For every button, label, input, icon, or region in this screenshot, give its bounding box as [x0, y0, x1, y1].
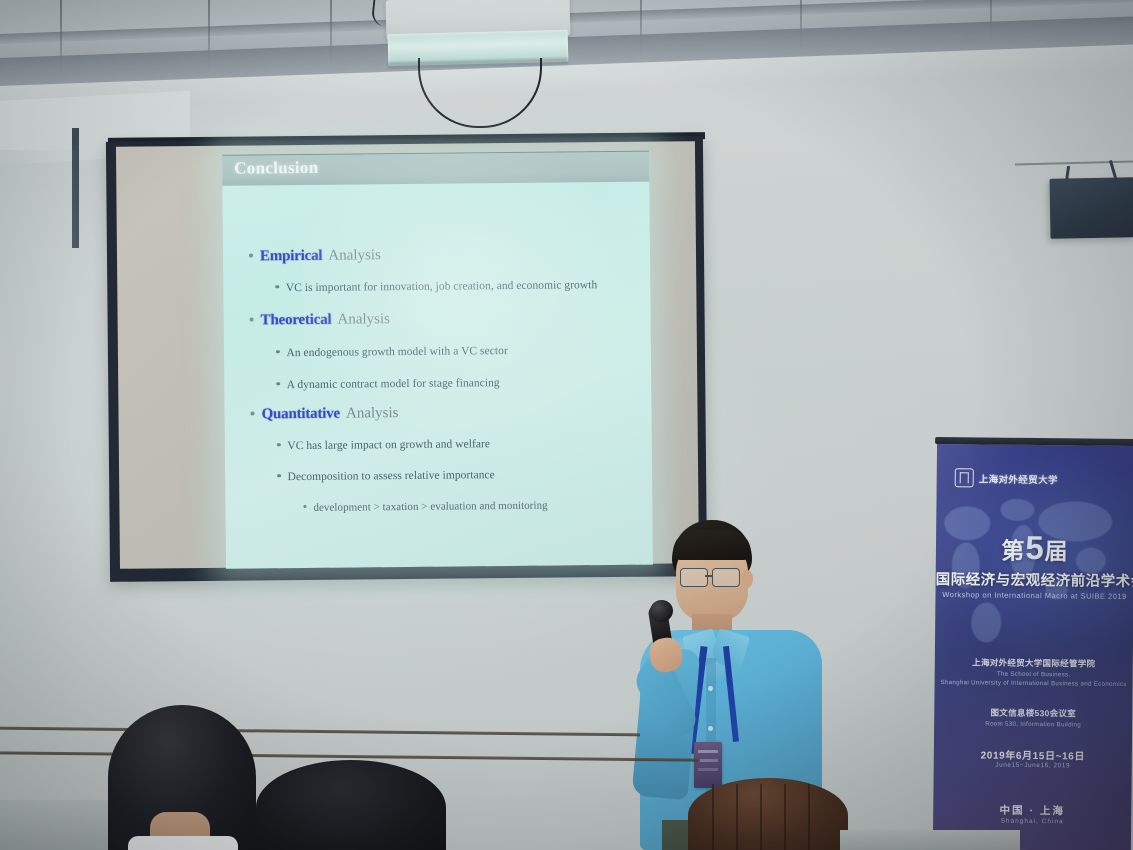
- slide-bullet-keyword: Quantitative: [261, 406, 340, 424]
- slide-bullet-text: Decomposition to assess relative importa…: [288, 469, 495, 483]
- conference-banner: 上海对外经贸大学 第5届 国际经济与宏观经济前沿学术会议 Workshop on…: [931, 437, 1133, 850]
- slide-bullet-l3: development > taxation > evaluation and …: [303, 500, 547, 514]
- bullet-dot-icon: [276, 350, 280, 354]
- shirt-button: [708, 686, 713, 691]
- banner-edition: 第5届: [936, 528, 1133, 568]
- projection-screen: Conclusion Empirical Analysis VC is impo…: [106, 136, 707, 582]
- slide-title: Conclusion: [234, 158, 318, 179]
- presenter-ear: [741, 570, 753, 588]
- glasses-icon: [712, 568, 740, 587]
- slide-bullet-l2: VC has large impact on growth and welfar…: [277, 438, 490, 452]
- slide-bullet-l1: Theoretical Analysis: [250, 311, 391, 329]
- banner-title-cn: 国际经济与宏观经济前沿学术会议: [936, 568, 1133, 591]
- bullet-dot-icon: [277, 474, 281, 478]
- slide-bullet-text: A dynamic contract model for stage finan…: [287, 377, 500, 391]
- audience-member-collar: [128, 836, 238, 850]
- slide-bullet-l2: Decomposition to assess relative importa…: [277, 469, 495, 483]
- slide-bullet-rest: Analysis: [337, 311, 390, 329]
- slide-body: Empirical Analysis VC is important for i…: [222, 181, 653, 569]
- banner-host-en-2: Shanghai University of International Bus…: [935, 678, 1133, 690]
- bullet-dot-icon: [250, 317, 254, 321]
- banner-venue-en: Room 530, Information Building: [934, 719, 1132, 731]
- slide-bullet-keyword: Empirical: [260, 248, 323, 266]
- wall-column-shade: [0, 150, 80, 850]
- bullet-dot-icon: [277, 443, 281, 447]
- banner-city-en: Shanghai, China: [933, 817, 1131, 826]
- slide-bullet-keyword: Theoretical: [261, 312, 332, 330]
- slide-bullet-text: An endogenous growth model with a VC sec…: [286, 345, 507, 359]
- edition-suffix: 届: [1045, 538, 1069, 564]
- glasses-icon: [680, 568, 708, 587]
- bullet-dot-icon: [303, 505, 306, 508]
- slide-bullet-l1: Quantitative Analysis: [250, 405, 398, 423]
- slide-bullet-l2: A dynamic contract model for stage finan…: [276, 377, 500, 391]
- edition-prefix: 第: [1001, 538, 1025, 564]
- edition-number: 5: [1025, 529, 1045, 566]
- university-logo-text: 上海对外经贸大学: [979, 471, 1058, 486]
- slide-bullet-text: development > taxation > evaluation and …: [313, 500, 547, 514]
- audience-member-head: [256, 760, 446, 850]
- slide-bullet-l2: VC is important for innovation, job crea…: [275, 279, 597, 294]
- slide-bullet-text: VC has large impact on growth and welfar…: [287, 438, 490, 452]
- bullet-dot-icon: [250, 411, 254, 415]
- presentation-photo-scene: Conclusion Empirical Analysis VC is impo…: [0, 0, 1133, 850]
- audience-member-head: [688, 778, 848, 850]
- foreground-shade: [0, 800, 110, 850]
- banner-venue: 图文信息楼530会议室 Room 530, Information Buildi…: [934, 706, 1132, 730]
- slide-bullet-rest: Analysis: [328, 247, 381, 265]
- screen-surface: Conclusion Empirical Analysis VC is impo…: [116, 141, 699, 569]
- bullet-dot-icon: [275, 285, 279, 289]
- slide-bullet-rest: Analysis: [346, 405, 399, 423]
- banner-date: 2019年6月15日~16日 June15~June16, 2019: [934, 746, 1132, 770]
- presenter-hair-front: [673, 530, 751, 560]
- wall-speaker: [1049, 177, 1133, 238]
- bullet-dot-icon: [249, 253, 253, 257]
- projected-slide: Conclusion Empirical Analysis VC is impo…: [222, 151, 653, 569]
- banner-panel: 上海对外经贸大学 第5届 国际经济与宏观经济前沿学术会议 Workshop on…: [933, 444, 1133, 850]
- banner-date-en: June15~June16, 2019: [934, 761, 1132, 770]
- slide-bullet-l2: An endogenous growth model with a VC sec…: [276, 345, 508, 359]
- table-edge: [840, 830, 1020, 850]
- university-logo: 上海对外经贸大学: [955, 468, 1058, 488]
- banner-city: 中国 · 上海 Shanghai, China: [933, 802, 1131, 826]
- slide-bullet-text: VC is important for innovation, job crea…: [286, 279, 598, 294]
- university-emblem-icon: [955, 468, 974, 487]
- banner-host: 上海对外经贸大学国际经管学院 The School of Business, S…: [935, 656, 1133, 690]
- conference-badge: [694, 742, 722, 788]
- shirt-button: [708, 726, 713, 731]
- slide-bullet-l1: Empirical Analysis: [249, 247, 381, 265]
- glasses-bridge-icon: [705, 575, 713, 577]
- bullet-dot-icon: [276, 382, 280, 386]
